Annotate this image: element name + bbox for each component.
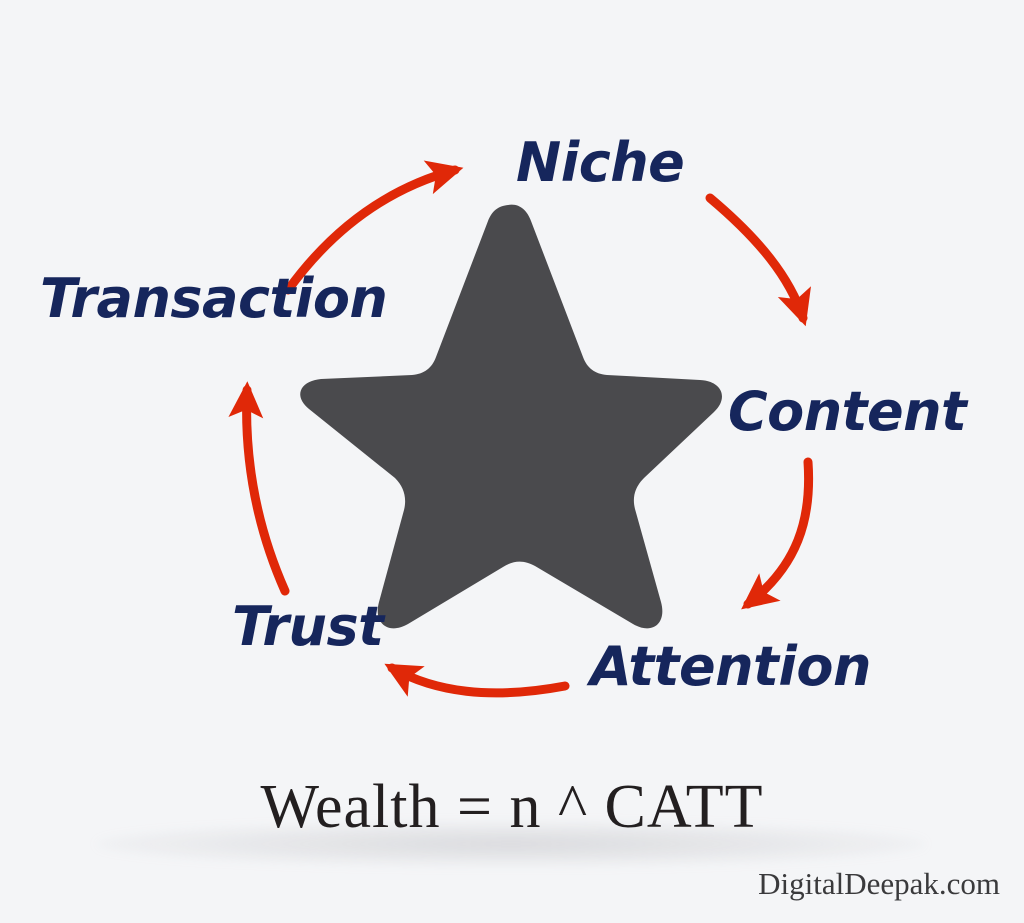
arrow-niche-to-content [710,198,803,318]
node-label-transaction: Transaction [40,272,387,326]
arrow-attention-to-trust [392,668,565,693]
arrow-content-to-attention [748,462,809,604]
wealth-formula: Wealth = n ^ CATT [0,772,1024,843]
node-label-niche: Niche [516,136,684,190]
source-credit: DigitalDeepak.com [758,866,1000,902]
node-label-trust: Trust [232,600,383,654]
arrow-trust-to-transaction [247,390,285,591]
node-label-attention: Attention [590,640,871,694]
catt-funnel-diagram: Niche Content Attention Trust Transactio… [0,0,1024,923]
node-label-content: Content [728,385,966,439]
